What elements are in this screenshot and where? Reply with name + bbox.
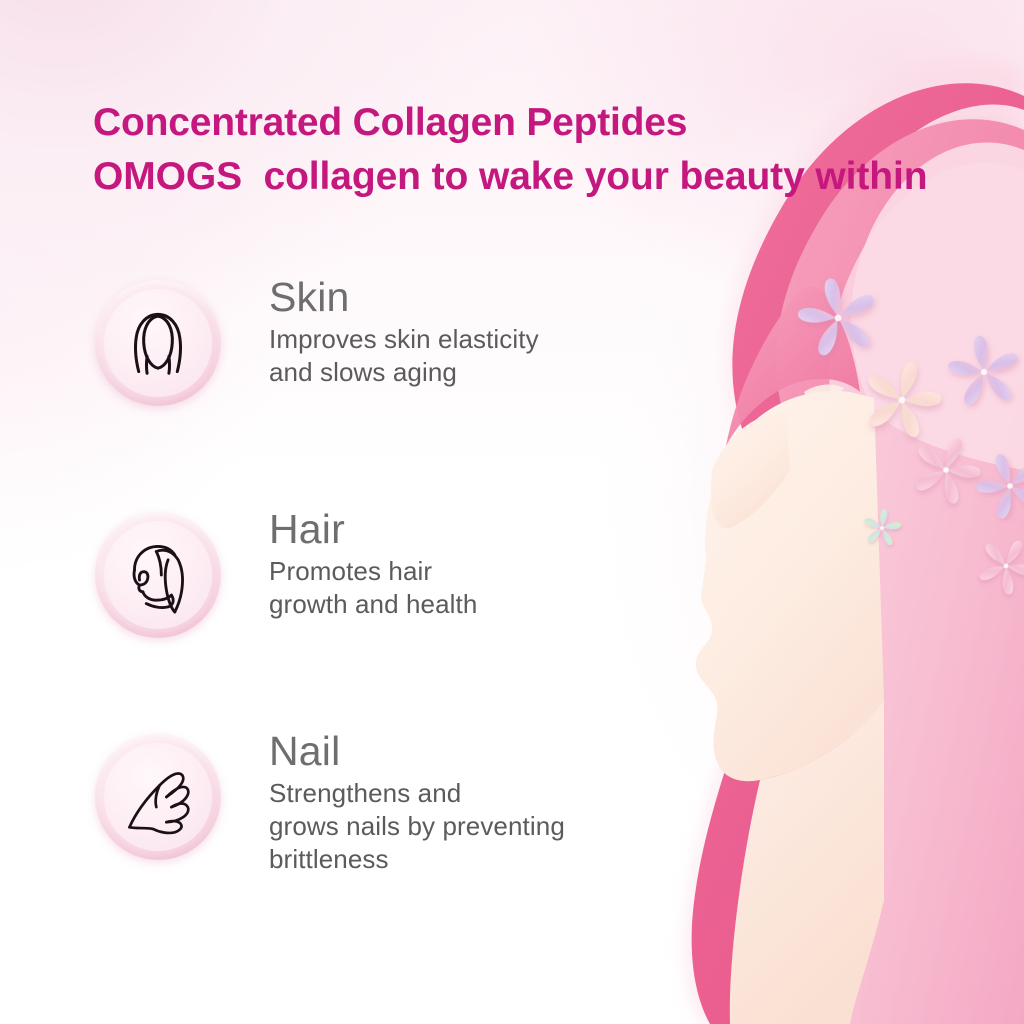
headline-block: Concentrated Collagen Peptides OMOGS col… xyxy=(93,96,973,204)
feature-desc-hair: Promotes hair growth and health xyxy=(269,555,477,621)
feature-item-hair: Hair Promotes hair growth and health xyxy=(0,500,660,722)
feature-title-nail: Nail xyxy=(269,728,565,775)
feature-title-skin: Skin xyxy=(269,274,539,321)
hair-icon-badge xyxy=(95,512,221,638)
feature-title-hair: Hair xyxy=(269,506,477,553)
feature-desc-skin: Improves skin elasticity and slows aging xyxy=(269,323,539,389)
feature-item-nail: Nail Strengthens and grows nails by prev… xyxy=(0,722,660,922)
face-skin-icon xyxy=(116,301,200,385)
headline-line-1: Concentrated Collagen Peptides xyxy=(93,96,973,150)
poster-canvas: Concentrated Collagen Peptides OMOGS col… xyxy=(0,0,1024,1024)
headline-line-2: OMOGS collagen to wake your beauty withi… xyxy=(93,150,973,204)
nail-icon-badge xyxy=(95,734,221,860)
hand-nails-icon xyxy=(116,755,200,839)
feature-desc-nail: Strengthens and grows nails by preventin… xyxy=(269,777,565,876)
feature-list: Skin Improves skin elasticity and slows … xyxy=(0,268,660,922)
skin-icon-badge xyxy=(95,280,221,406)
hair-ponytail-icon xyxy=(116,533,200,617)
nail-text-block: Nail Strengthens and grows nails by prev… xyxy=(269,722,565,876)
feature-item-skin: Skin Improves skin elasticity and slows … xyxy=(0,268,660,500)
hair-text-block: Hair Promotes hair growth and health xyxy=(269,500,477,621)
skin-text-block: Skin Improves skin elasticity and slows … xyxy=(269,268,539,389)
